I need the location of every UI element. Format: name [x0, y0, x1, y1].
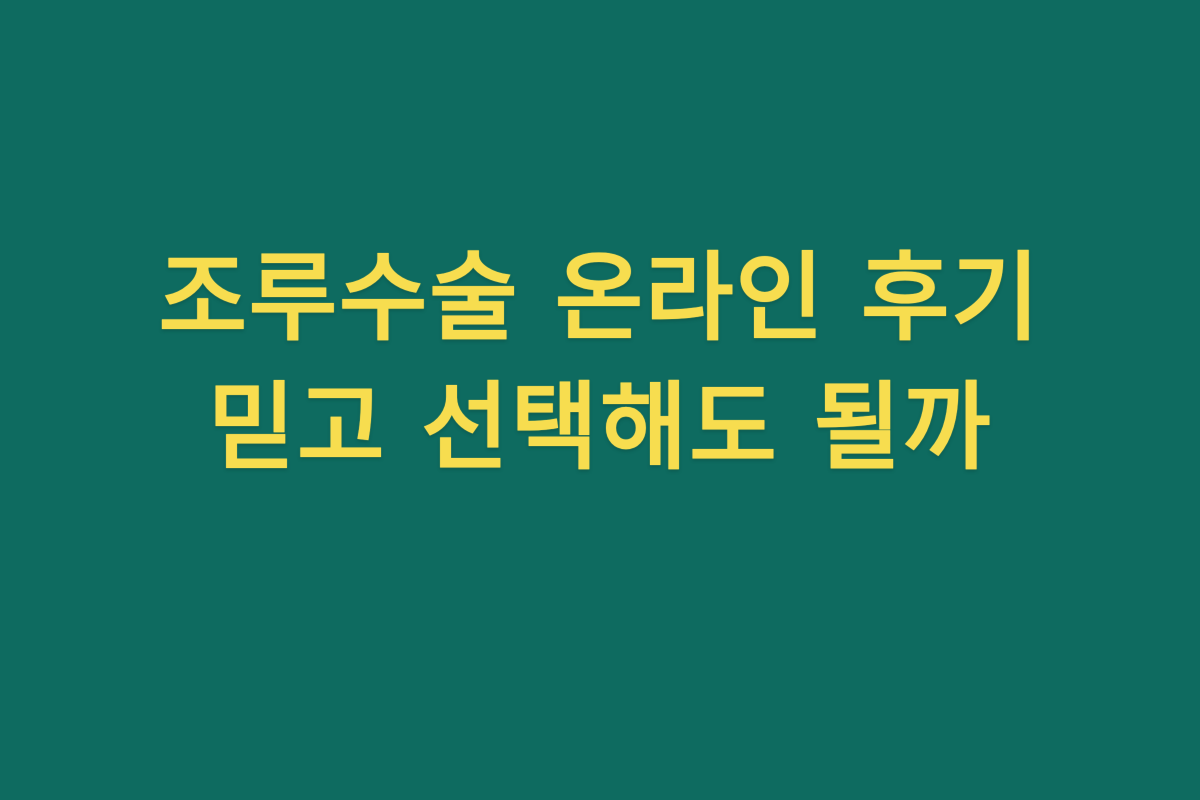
- promo-banner: 조루수술 온라인 후기 믿고 선택해도 될까: [0, 0, 1200, 800]
- headline-line-1: 조루수술 온라인 후기: [0, 233, 1200, 363]
- headline-line-2: 믿고 선택해도 될까: [0, 363, 1200, 493]
- headline-block: 조루수술 온라인 후기 믿고 선택해도 될까: [0, 233, 1200, 493]
